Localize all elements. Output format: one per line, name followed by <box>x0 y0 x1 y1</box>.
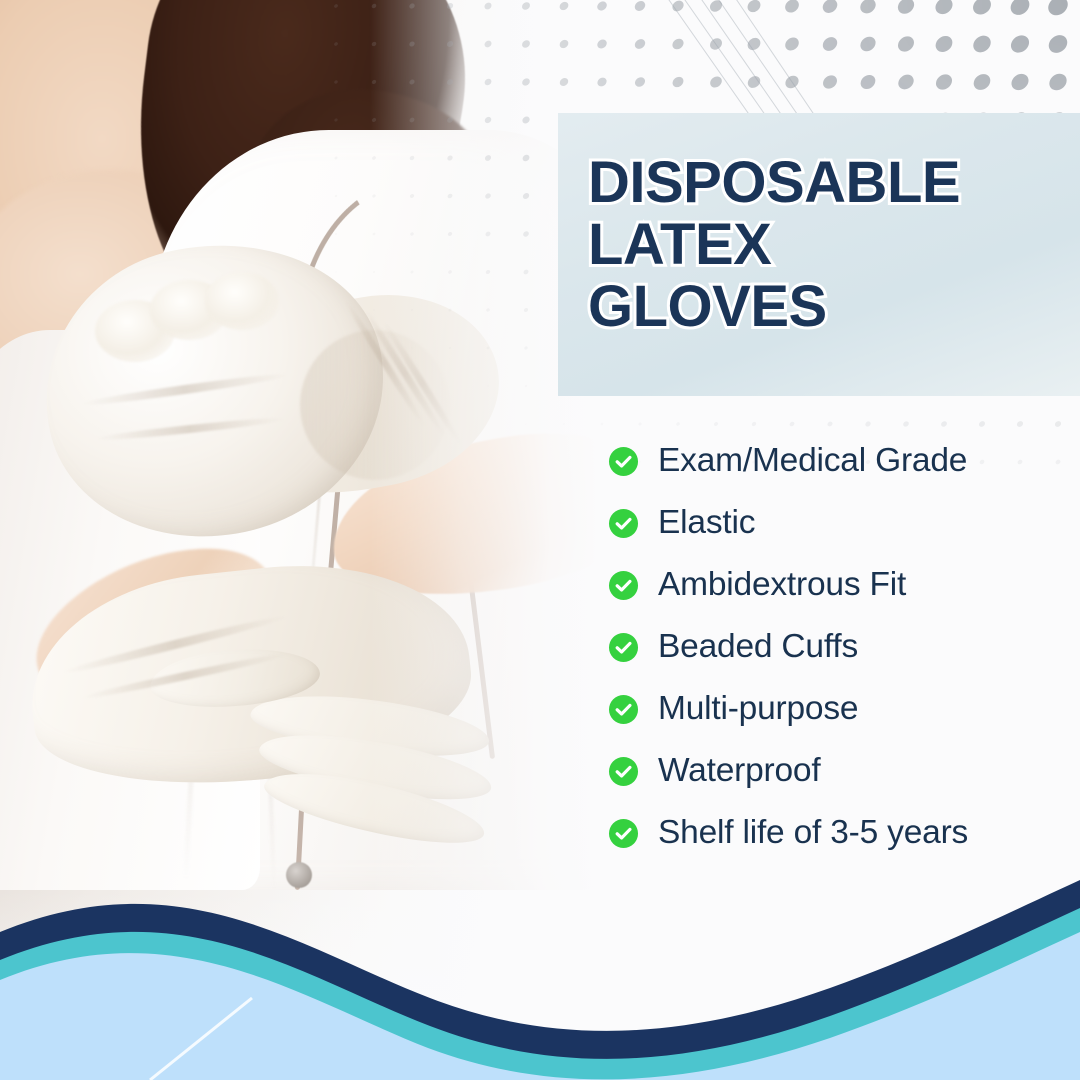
list-item-label: Exam/Medical Grade <box>658 442 967 480</box>
list-item: Beaded Cuffs <box>608 616 1058 678</box>
title-line-3: GLOVES <box>588 276 1068 338</box>
title-line-1: DISPOSABLE <box>588 152 1068 214</box>
feature-list: Exam/Medical Grade Elastic Ambidextrous … <box>608 430 1058 864</box>
list-item: Multi-purpose <box>608 678 1058 740</box>
list-item-label: Beaded Cuffs <box>658 628 858 666</box>
poster-canvas: DISPOSABLE LATEX GLOVES Exam/Medical Gra… <box>0 0 1080 1080</box>
list-item-label: Waterproof <box>658 752 820 790</box>
glove-knuckle <box>205 272 279 330</box>
check-circle-icon <box>608 570 639 601</box>
list-item-label: Ambidextrous Fit <box>658 566 906 604</box>
bottom-wave-decoration <box>0 840 1080 1080</box>
list-item-label: Multi-purpose <box>658 690 858 728</box>
check-circle-icon <box>608 756 639 787</box>
list-item-label: Elastic <box>658 504 755 542</box>
list-item: Waterproof <box>608 740 1058 802</box>
check-circle-icon <box>608 632 639 663</box>
page-title: DISPOSABLE LATEX GLOVES <box>588 152 1068 338</box>
list-item: Elastic <box>608 492 1058 554</box>
check-circle-icon <box>608 508 639 539</box>
list-item: Ambidextrous Fit <box>608 554 1058 616</box>
check-circle-icon <box>608 446 639 477</box>
title-line-2: LATEX <box>588 214 1068 276</box>
list-item: Exam/Medical Grade <box>608 430 1058 492</box>
check-circle-icon <box>608 694 639 725</box>
